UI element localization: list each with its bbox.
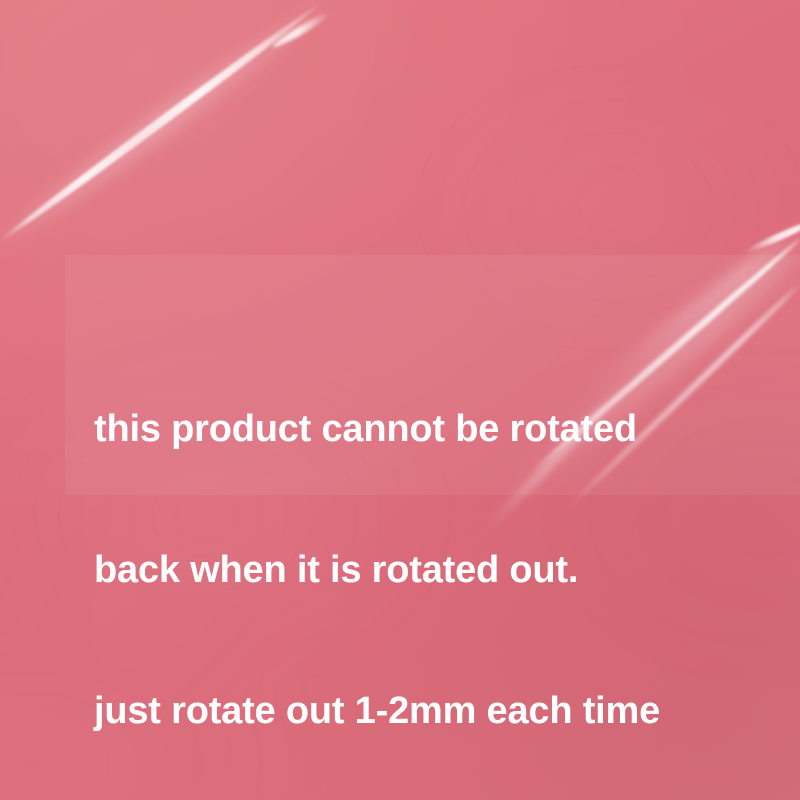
caption-text-block: this product cannot be rotated back when…: [94, 312, 794, 800]
caption-line-2: back when it is rotated out.: [94, 547, 794, 594]
product-image-canvas: this product cannot be rotated back when…: [0, 0, 800, 800]
caption-line-1: this product cannot be rotated: [94, 406, 794, 453]
caption-line-3: just rotate out 1-2mm each time: [94, 688, 794, 735]
